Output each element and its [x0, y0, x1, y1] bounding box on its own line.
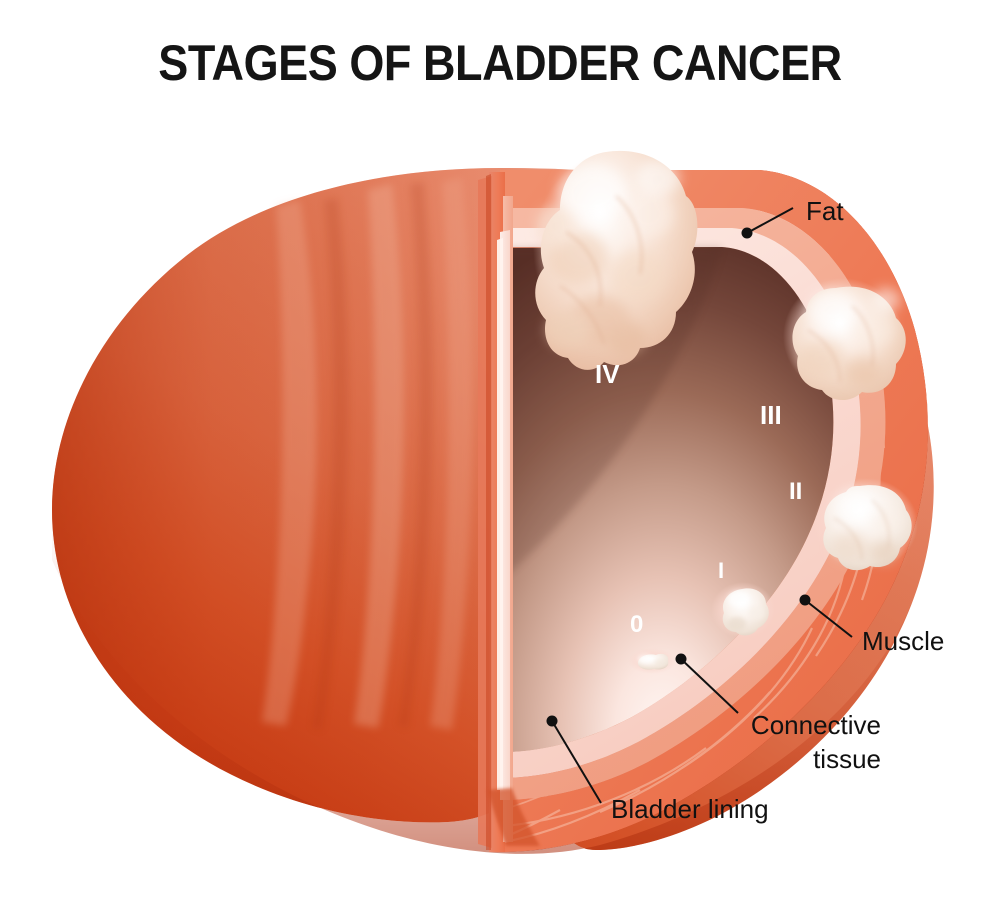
tumor-stage-2: [814, 478, 918, 570]
callout-muscle-label: Muscle: [862, 626, 944, 656]
stage-label-0: 0: [630, 611, 643, 638]
callout-connective-tissue-label-line1: Connective: [751, 710, 881, 740]
callout-fat-dot: [742, 228, 753, 239]
tumor-stage-0: [628, 648, 676, 674]
stage-label-3: III: [760, 400, 782, 430]
callout-bladder-lining-dot: [547, 716, 558, 727]
stage-label-1: I: [718, 558, 724, 583]
bladder-cancer-diagram: IV III II I 0 Fat Muscle: [0, 0, 1000, 897]
callout-fat-label: Fat: [806, 196, 844, 226]
cut-face-highlight: [497, 238, 503, 790]
cut-face-edge-shadow: [486, 174, 491, 850]
stage-label-2: II: [789, 478, 802, 505]
tumor-stage-1: [711, 582, 775, 638]
callout-connective-tissue-dot: [676, 654, 687, 665]
callout-connective-tissue-label-line2: tissue: [813, 744, 881, 774]
callout-muscle-dot: [800, 595, 811, 606]
figure-root: STAGES OF BLADDER CANCER: [0, 0, 1000, 897]
callout-bladder-lining-label: Bladder lining: [611, 794, 769, 824]
stage-label-4: IV: [595, 359, 620, 389]
